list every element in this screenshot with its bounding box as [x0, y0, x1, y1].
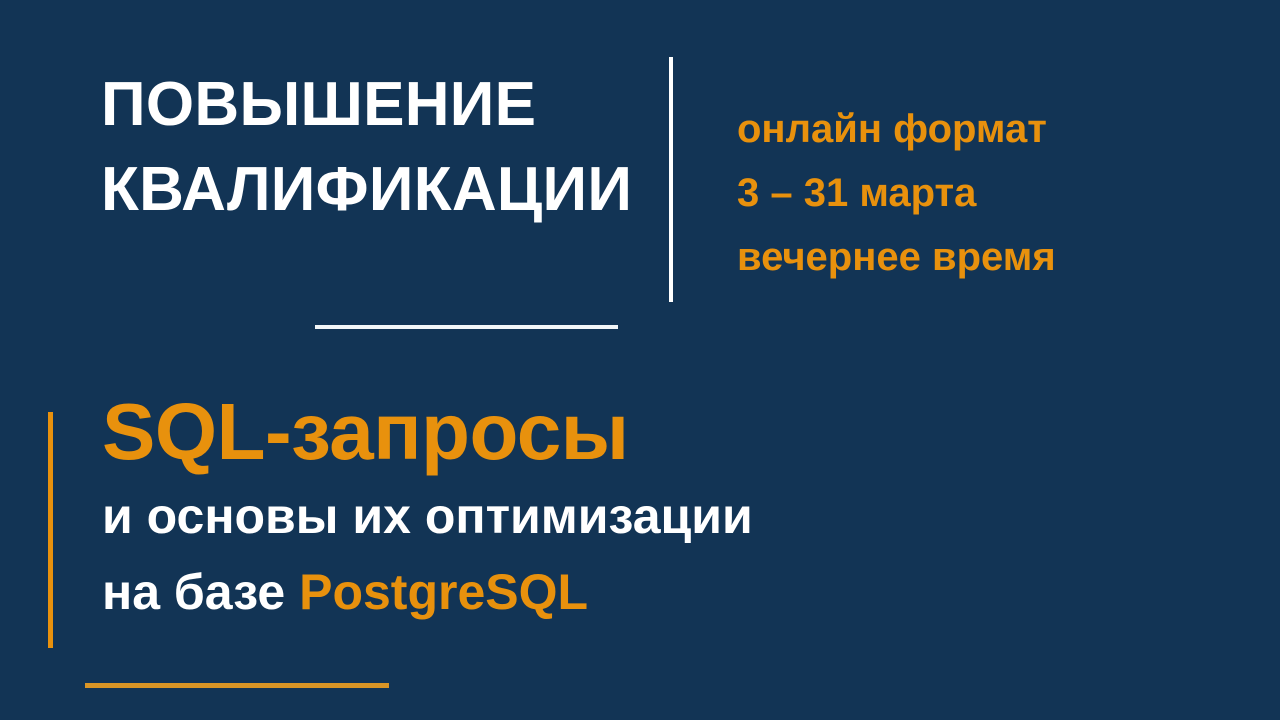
schedule-info: онлайн формат 3 – 31 марта вечернее врем…	[737, 97, 1157, 289]
course-title-block: SQL-запросы и основы их оптимизации на б…	[0, 360, 1280, 720]
orange-divider	[85, 683, 389, 688]
course-title-secondary: и основы их оптимизации	[102, 478, 1152, 554]
vertical-divider	[669, 57, 673, 302]
schedule-time: вечернее время	[737, 225, 1157, 289]
white-divider	[315, 325, 618, 329]
course-title-platform-prefix: на базе	[102, 564, 299, 620]
header-block: ПОВЫШЕНИЕ КВАЛИФИКАЦИИ онлайн формат 3 –…	[0, 0, 1280, 330]
presentation-slide: ПОВЫШЕНИЕ КВАЛИФИКАЦИИ онлайн формат 3 –…	[0, 0, 1280, 720]
course-title-platform-name: PostgreSQL	[299, 564, 588, 620]
schedule-dates: 3 – 31 марта	[737, 161, 1157, 225]
orange-accent-bar	[48, 412, 53, 648]
course-title-primary: SQL-запросы	[102, 386, 1152, 478]
course-kind-line-2: КВАЛИФИКАЦИИ	[101, 147, 661, 232]
course-kind-heading: ПОВЫШЕНИЕ КВАЛИФИКАЦИИ	[101, 62, 661, 232]
course-kind-line-1: ПОВЫШЕНИЕ	[101, 62, 661, 147]
course-title-platform: на базе PostgreSQL	[102, 554, 1152, 630]
schedule-format: онлайн формат	[737, 97, 1157, 161]
course-title: SQL-запросы и основы их оптимизации на б…	[102, 386, 1152, 630]
